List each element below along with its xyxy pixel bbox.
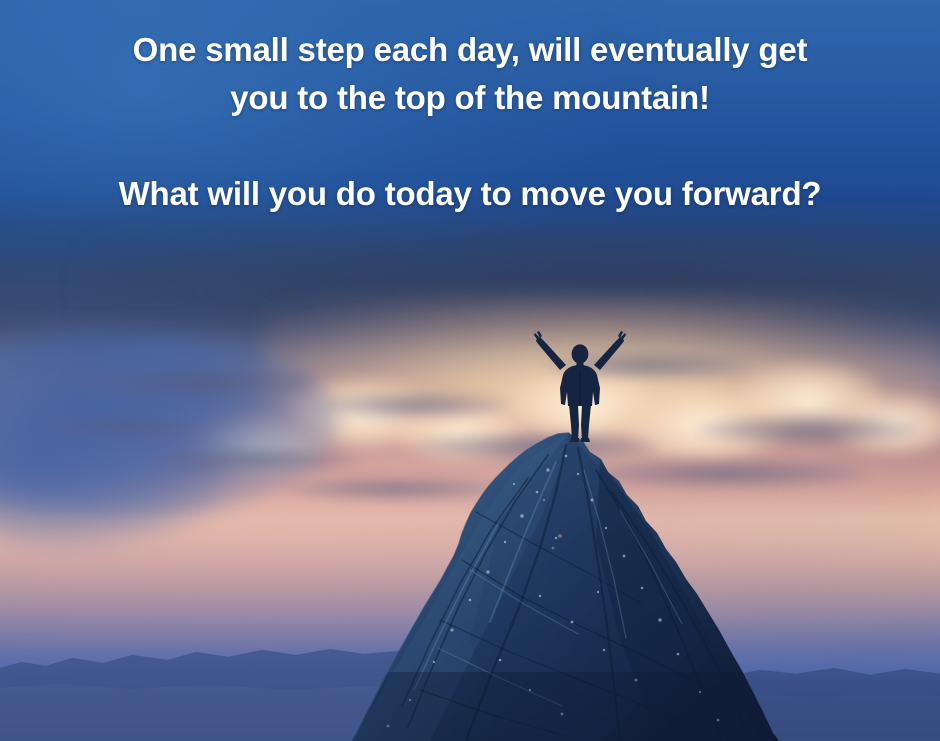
caption-line-2: you to the top of the mountain! [56, 74, 884, 122]
motivational-poster: One small step each day, will eventually… [0, 0, 940, 741]
caption-block: One small step each day, will eventually… [0, 26, 940, 218]
caption-line-3: What will you do today to move you forwa… [56, 170, 884, 218]
caption-spacer [56, 122, 884, 170]
caption-line-1: One small step each day, will eventually… [56, 26, 884, 74]
person-silhouette-arms-raised [525, 326, 635, 444]
